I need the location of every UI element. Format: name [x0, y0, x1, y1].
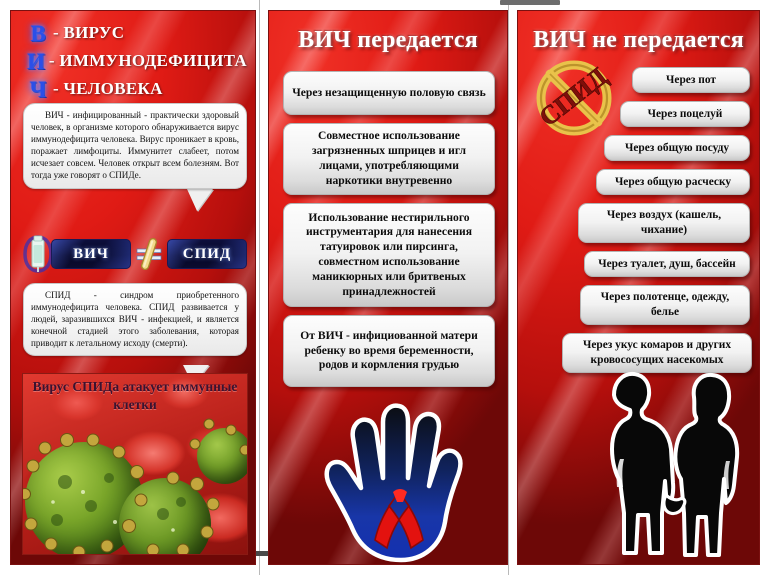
- acronym-block: В - ВИРУС И - ИММУНОДЕФИЦИТА Ч - ЧЕЛОВЕК…: [23, 19, 247, 103]
- panel-right: ВИЧ не передается СПИД Через пот Через п…: [517, 10, 760, 565]
- aids-definition-bubble: СПИД - синдром приобретенного иммунодефи…: [23, 283, 247, 356]
- chip-hiv: ВИЧ: [51, 239, 131, 269]
- transmission-card: Через незащищенную половую связь: [283, 71, 495, 115]
- non-transmission-card: Через поцелуй: [620, 101, 750, 127]
- virus-illustration: Вирус СПИДа атакует иммунные клетки: [22, 373, 248, 555]
- panel-left: В - ВИРУС И - ИММУНОДЕФИЦИТА Ч - ЧЕЛОВЕК…: [10, 10, 256, 565]
- couple-silhouette-icon: [574, 363, 750, 563]
- non-transmission-card: Через полотенце, одежду, белье: [580, 285, 750, 325]
- hand-with-red-ribbon-icon: [309, 396, 469, 564]
- non-transmission-card: Через общую посуду: [604, 135, 750, 161]
- acronym-label: - ВИРУС: [53, 23, 124, 43]
- not-equal-icon: [134, 237, 164, 271]
- acronym-label: - ИММУНОДЕФИЦИТА: [49, 51, 247, 71]
- non-transmission-card: Через туалет, душ, бассейн: [584, 251, 750, 277]
- non-transmission-card: Через пот: [632, 67, 750, 93]
- speech-bubble-tail: [187, 189, 213, 211]
- page-title-not-transmitted: ВИЧ не передается: [518, 27, 759, 54]
- virus-illustration-title: Вирус СПИДа атакует иммунные клетки: [23, 378, 247, 414]
- no-aids-prohibition-icon: СПИД: [530, 55, 618, 141]
- acronym-letter-icon: И: [23, 50, 49, 73]
- acronym-row-i: И - ИММУНОДЕФИЦИТА: [23, 47, 247, 75]
- non-transmission-card: Через воздух (кашель, чихание): [578, 203, 750, 243]
- fold-guide-right: [508, 0, 509, 575]
- non-transmission-card: Через общую расческу: [596, 169, 750, 195]
- acronym-row-ch: Ч - ЧЕЛОВЕКА: [23, 75, 247, 103]
- page-title-transmitted: ВИЧ передается: [269, 27, 507, 54]
- hiv-definition-bubble: ВИЧ - инфицированный - практически здоро…: [23, 103, 247, 189]
- top-marker-bar: [500, 0, 560, 5]
- transmission-card: Использование нестирильного инструментар…: [283, 203, 495, 307]
- brochure-page: В - ВИРУС И - ИММУНОДЕФИЦИТА Ч - ЧЕЛОВЕК…: [0, 0, 766, 575]
- transmission-card: Совместное использование загрязненных шп…: [283, 123, 495, 195]
- acronym-letter-icon: Ч: [23, 78, 53, 101]
- fold-guide-left: [259, 0, 260, 575]
- acronym-letter-icon: В: [23, 22, 53, 45]
- hiv-vs-aids-band: ВИЧ СПИД: [21, 233, 247, 275]
- acronym-label: - ЧЕЛОВЕКА: [53, 79, 163, 99]
- panel-middle: ВИЧ передается Через незащищенную полову…: [268, 10, 508, 565]
- syringe-icon: [21, 235, 55, 273]
- transmission-card: От ВИЧ - инфициованной матери ребенку во…: [283, 315, 495, 387]
- chip-aids: СПИД: [167, 239, 247, 269]
- acronym-row-v: В - ВИРУС: [23, 19, 247, 47]
